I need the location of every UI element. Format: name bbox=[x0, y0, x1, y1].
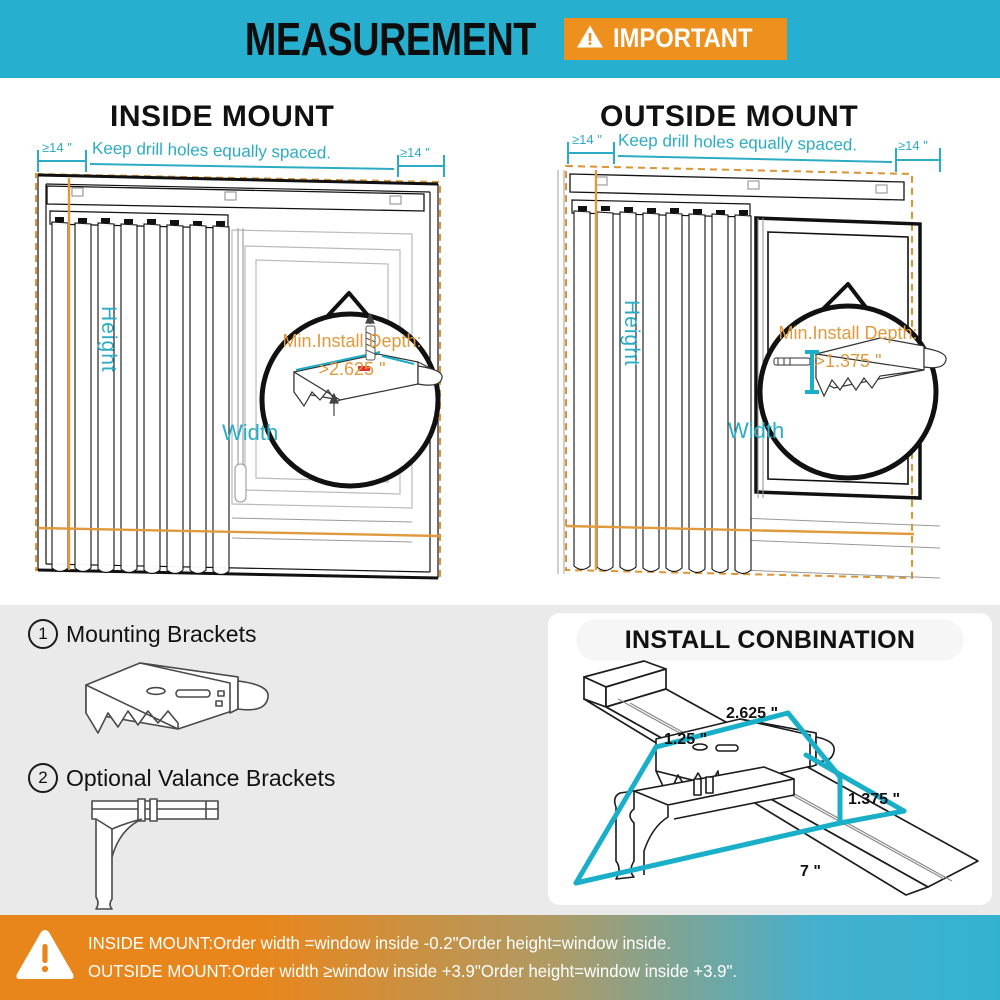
outside-callout-line2: >1.375 " bbox=[758, 350, 938, 373]
measurement-infographic: MEASUREMENT IMPORTANT INSIDE MOUNT OUTSI… bbox=[0, 0, 1000, 1000]
combination-dimension-bottom: 7 " bbox=[800, 863, 821, 881]
footer-outside-mount-rule: OUTSIDE MOUNT:Order width ≥window inside… bbox=[88, 961, 737, 982]
footer-banner: INSIDE MOUNT:Order width =window inside … bbox=[0, 915, 1000, 1000]
part-number-2: 2 bbox=[28, 763, 58, 793]
inside-callout-line1: Min.Install Depth: bbox=[262, 330, 442, 353]
important-badge-label: IMPORTANT bbox=[613, 23, 752, 54]
warning-triangle-icon bbox=[576, 24, 604, 54]
outside-callout-line1: Min.Install Depth: bbox=[758, 322, 938, 345]
outside-left-edge-dimension: ≥14 " bbox=[572, 132, 602, 147]
combination-dimension-left: 1.25 " bbox=[664, 731, 707, 749]
outside-width-label: Width bbox=[728, 418, 784, 444]
outside-mount-diagram: ≥14 " ≥14 " Keep drill holes equally spa… bbox=[500, 78, 1000, 605]
install-combination-title: INSTALL CONBINATION bbox=[625, 626, 915, 655]
part-number-1: 1 bbox=[28, 619, 58, 649]
part-item-2: 2 Optional Valance Brackets bbox=[28, 763, 335, 793]
outside-right-edge-dimension: ≥14 " bbox=[898, 138, 928, 153]
mount-diagrams-section: INSIDE MOUNT OUTSIDE MOUNT bbox=[0, 78, 1000, 605]
footer-inside-mount-rule: INSIDE MOUNT:Order width =window inside … bbox=[88, 933, 737, 954]
warning-triangle-icon bbox=[14, 927, 76, 988]
inside-left-edge-dimension: ≥14 " bbox=[42, 140, 72, 155]
inside-callout-line2: >2.625 " bbox=[262, 358, 442, 381]
important-badge: IMPORTANT bbox=[564, 18, 787, 60]
combination-dimension-top: 2.625 " bbox=[726, 705, 778, 723]
part-label-1: Mounting Brackets bbox=[66, 621, 256, 648]
inside-height-label: Height bbox=[96, 306, 120, 373]
part-item-1: 1 Mounting Brackets bbox=[28, 619, 256, 649]
footer-text-block: INSIDE MOUNT:Order width =window inside … bbox=[88, 933, 764, 982]
combination-dimension-right: 1.375 " bbox=[848, 791, 900, 809]
part-label-2: Optional Valance Brackets bbox=[66, 765, 335, 792]
outside-height-label: Height bbox=[619, 300, 643, 367]
install-combination-illustration bbox=[548, 655, 992, 903]
valance-bracket-icon bbox=[86, 795, 236, 913]
parts-and-combination-section: 1 Mounting Brackets 2 Optional Valance B… bbox=[0, 605, 1000, 915]
inside-right-edge-dimension: ≥14 " bbox=[400, 145, 430, 160]
page-title: MEASUREMENT bbox=[245, 12, 536, 66]
install-combination-panel: INSTALL CONBINATION bbox=[548, 613, 992, 905]
header-banner: MEASUREMENT IMPORTANT bbox=[0, 0, 1000, 78]
mounting-bracket-icon bbox=[78, 657, 288, 747]
inside-width-label: Width bbox=[222, 420, 278, 446]
inside-mount-diagram: ≥14 " ≥14 " Keep drill holes equally spa… bbox=[0, 78, 500, 605]
